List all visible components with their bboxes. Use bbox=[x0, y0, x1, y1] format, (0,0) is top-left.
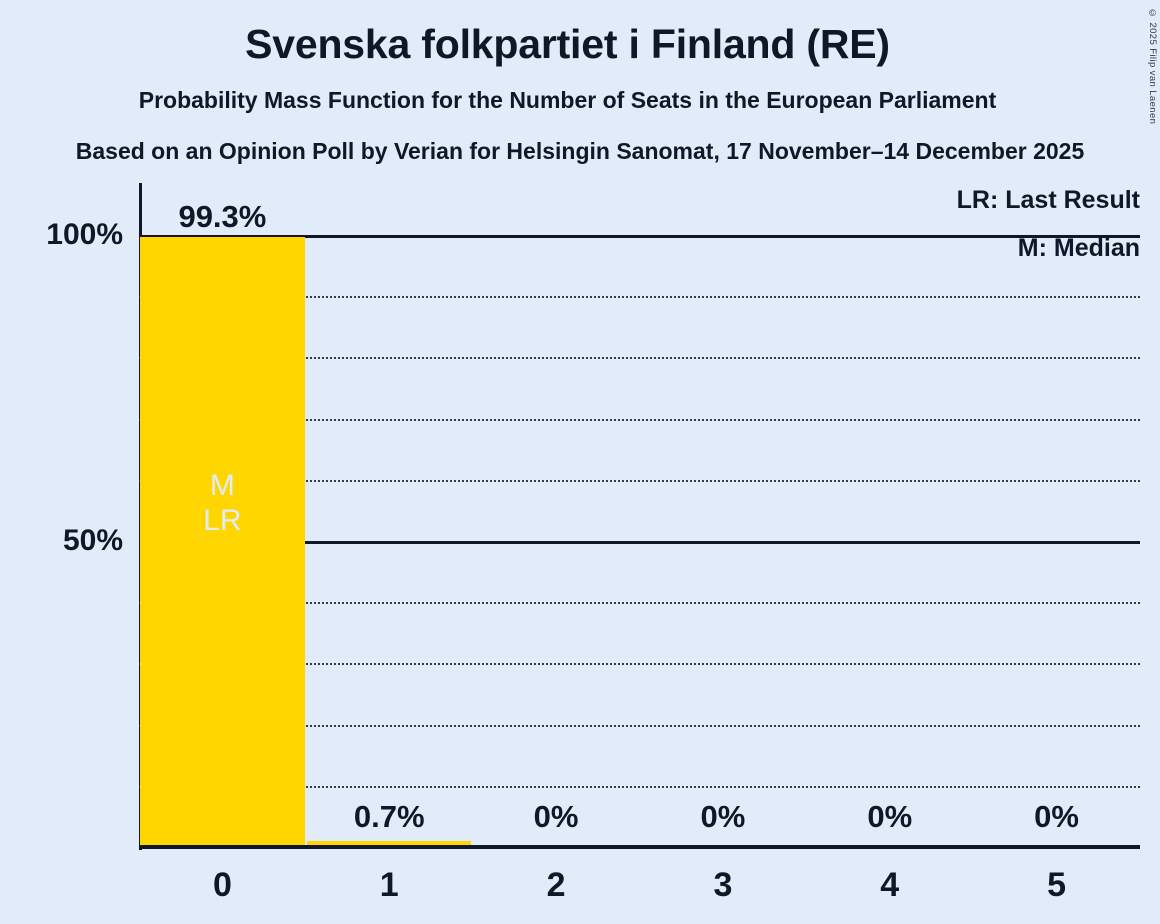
bar-value-label-5: 0% bbox=[973, 801, 1140, 832]
bar-seat-1[interactable] bbox=[307, 841, 471, 845]
bar-value-label-1: 0.7% bbox=[306, 801, 473, 832]
bar-value-label-3: 0% bbox=[640, 801, 807, 832]
x-tick-5: 5 bbox=[973, 868, 1140, 902]
chart-subtitle: Probability Mass Function for the Number… bbox=[0, 88, 1135, 113]
chart-source-line: Based on an Opinion Poll by Verian for H… bbox=[0, 139, 1160, 164]
x-tick-3: 3 bbox=[640, 868, 807, 902]
bar-value-label-0: 99.3% bbox=[139, 201, 306, 232]
x-tick-4: 4 bbox=[806, 868, 973, 902]
x-tick-2: 2 bbox=[473, 868, 640, 902]
x-tick-0: 0 bbox=[139, 868, 306, 902]
y-tick-50%: 50% bbox=[3, 526, 123, 556]
last-result-marker: LR bbox=[140, 504, 304, 539]
copyright-notice: © 2025 Filip van Laenen bbox=[1147, 8, 1158, 124]
page-title: Svenska folkpartiet i Finland (RE) bbox=[0, 22, 1135, 67]
chart-page: Svenska folkpartiet i Finland (RE) Proba… bbox=[0, 0, 1160, 924]
median-marker: M bbox=[140, 469, 304, 504]
plot-area: MLR bbox=[139, 183, 1140, 847]
bar-seat-0[interactable]: MLR bbox=[140, 237, 304, 845]
y-tick-100%: 100% bbox=[3, 220, 123, 250]
bar-value-label-4: 0% bbox=[806, 801, 973, 832]
bar-marker-labels: MLR bbox=[140, 469, 304, 538]
x-tick-1: 1 bbox=[306, 868, 473, 902]
bar-value-label-2: 0% bbox=[473, 801, 640, 832]
